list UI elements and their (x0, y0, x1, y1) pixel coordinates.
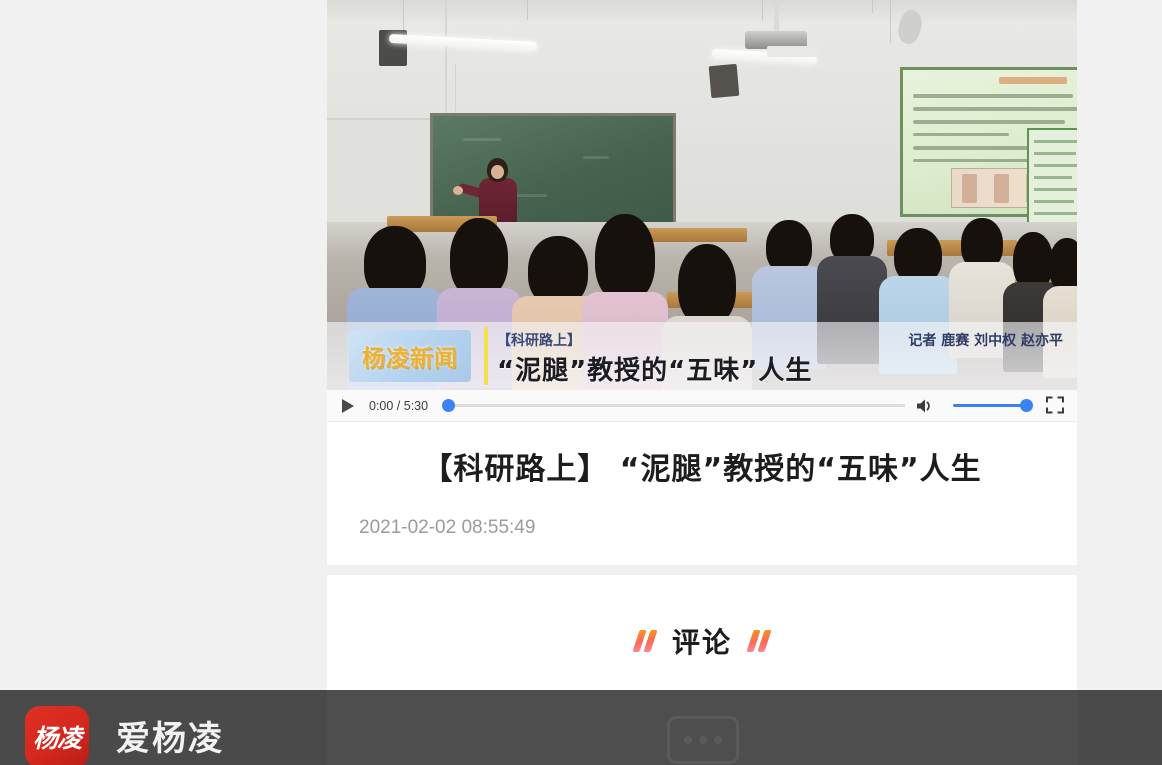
bottom-app-bar: 杨凌 爱杨凌 (0, 690, 1162, 765)
lamp-wire (872, 0, 873, 13)
fullscreen-glyph (1045, 395, 1065, 415)
wall-speaker (709, 64, 740, 98)
projector-mount (767, 46, 821, 57)
overlay-divider (484, 327, 488, 385)
progress-handle[interactable] (442, 399, 455, 412)
play-triangle (342, 399, 354, 413)
overlay-kicker: 【科研路上】 (497, 330, 581, 350)
volume-handle[interactable] (1020, 399, 1033, 412)
app-logo-icon[interactable]: 杨凌 (25, 706, 89, 765)
teacher-hand (453, 186, 463, 195)
comments-title: 评论 (672, 621, 732, 661)
progress-slider[interactable] (442, 398, 905, 414)
video-lower-third: 杨凌新闻 【科研路上】 “泥腿”教授的“五味”人生 记者 鹿赛 刘中权 赵亦平 (327, 322, 1077, 390)
dot (699, 736, 707, 744)
lamp-wire (527, 0, 528, 20)
video-control-bar: 0:00 / 5:30 (327, 390, 1077, 422)
channel-logo: 杨凌新闻 (349, 330, 471, 382)
quote-left-icon (636, 630, 654, 652)
video-frame: 杨凌新闻 【科研路上】 “泥腿”教授的“五味”人生 记者 鹿赛 刘中权 赵亦平 (327, 0, 1077, 390)
progress-track (450, 404, 905, 407)
volume-glyph (915, 397, 935, 415)
comment-input-placeholder[interactable] (667, 716, 739, 764)
time-display: 0:00 / 5:30 (369, 399, 428, 413)
page-title: 【科研路上】 “泥腿”教授的“五味”人生 (359, 450, 1045, 489)
article-card: 【科研路上】 “泥腿”教授的“五味”人生 2021-02-02 08:55:49 (327, 422, 1077, 565)
dot (684, 736, 692, 744)
volume-slider[interactable] (953, 398, 1033, 414)
quote-right-icon (750, 630, 768, 652)
content-column: 杨凌新闻 【科研路上】 “泥腿”教授的“五味”人生 记者 鹿赛 刘中权 赵亦平 … (327, 0, 1077, 723)
comments-header: 评论 (636, 621, 768, 661)
publish-date: 2021-02-02 08:55:49 (359, 517, 1045, 539)
teacher-face (491, 165, 504, 179)
dot (714, 736, 722, 744)
projector-pole (774, 3, 779, 33)
volume-icon[interactable] (913, 395, 937, 417)
lamp-wire (762, 0, 763, 20)
play-icon[interactable] (337, 395, 359, 417)
lamp-wire (890, 0, 891, 43)
overlay-headline: “泥腿”教授的“五味”人生 (497, 350, 812, 387)
card-divider (327, 565, 1077, 575)
app-name-label: 爱杨凌 (116, 711, 224, 760)
lamp-wire (403, 0, 404, 34)
page-root: 杨凌新闻 【科研路上】 “泥腿”教授的“五味”人生 记者 鹿赛 刘中权 赵亦平 … (0, 0, 1162, 765)
ceiling (327, 0, 1077, 26)
overlay-credits: 记者 鹿赛 刘中权 赵亦平 (908, 330, 1063, 350)
video-player[interactable]: 杨凌新闻 【科研路上】 “泥腿”教授的“五味”人生 记者 鹿赛 刘中权 赵亦平 (327, 0, 1077, 390)
volume-track (953, 404, 1027, 407)
fullscreen-icon[interactable] (1045, 395, 1067, 417)
